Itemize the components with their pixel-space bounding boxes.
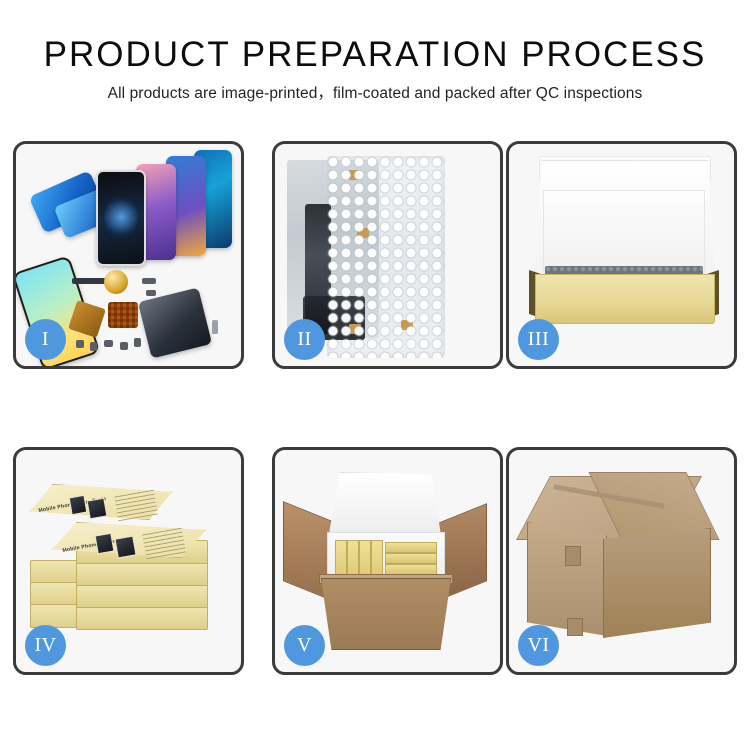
component-bar-icon bbox=[72, 278, 106, 284]
bubble-texture-icon bbox=[327, 156, 445, 358]
process-step-grid: I II bbox=[13, 141, 737, 676]
box-product-photo-icon bbox=[69, 495, 88, 516]
stacked-box-side bbox=[76, 606, 208, 630]
foam-lid-icon bbox=[329, 472, 441, 536]
step-panel-2: II bbox=[272, 141, 503, 369]
component-dot-icon bbox=[104, 340, 113, 347]
carton-tape-icon bbox=[567, 618, 583, 636]
component-chip-icon bbox=[108, 302, 138, 328]
carton-front-icon bbox=[321, 578, 451, 650]
component-screwdriver-icon bbox=[212, 320, 218, 334]
product-preparation-infographic: PRODUCT PREPARATION PROCESS All products… bbox=[0, 0, 750, 750]
step-panel-1: I bbox=[13, 141, 244, 369]
step-badge-1: I bbox=[25, 319, 66, 360]
component-dot-icon bbox=[146, 290, 156, 296]
step-panel-3: III bbox=[506, 141, 737, 369]
step-panel-5: V bbox=[272, 447, 503, 675]
step-badge-3: III bbox=[518, 319, 559, 360]
carton-tape-icon bbox=[565, 546, 581, 566]
component-dot-icon bbox=[90, 342, 97, 351]
component-dot-icon bbox=[142, 278, 156, 284]
step-badge-5: V bbox=[284, 625, 325, 666]
step-badge-6: VI bbox=[518, 625, 559, 666]
stacked-box-side bbox=[76, 562, 208, 586]
step-panel-6: VI bbox=[506, 447, 737, 675]
box-front-icon bbox=[535, 274, 715, 324]
page-subtitle: All products are image-printed，film-coat… bbox=[0, 84, 750, 104]
carton-face-right-icon bbox=[603, 528, 711, 638]
page-title: PRODUCT PREPARATION PROCESS bbox=[0, 34, 750, 76]
box-product-photo-icon bbox=[114, 536, 136, 559]
component-speaker-icon bbox=[104, 270, 128, 294]
phone-screen-glass-icon bbox=[96, 170, 146, 266]
yellow-box-item bbox=[385, 542, 437, 553]
component-dot-icon bbox=[76, 340, 84, 348]
step-panel-4: Mobile Phone Spare Parts Mobile Phone Sp… bbox=[13, 447, 244, 675]
yellow-box-item bbox=[385, 553, 437, 564]
box-product-photo-icon bbox=[94, 533, 114, 555]
header: PRODUCT PREPARATION PROCESS All products… bbox=[0, 34, 750, 104]
foam-sheet-icon bbox=[543, 190, 705, 276]
stacked-box-side bbox=[76, 584, 208, 608]
step-badge-4: IV bbox=[25, 625, 66, 666]
phone-backplate-icon bbox=[138, 287, 212, 358]
box-product-photo-icon bbox=[86, 498, 107, 520]
step-badge-2: II bbox=[284, 319, 325, 360]
component-dot-icon bbox=[120, 342, 128, 350]
component-dot-icon bbox=[134, 338, 141, 347]
